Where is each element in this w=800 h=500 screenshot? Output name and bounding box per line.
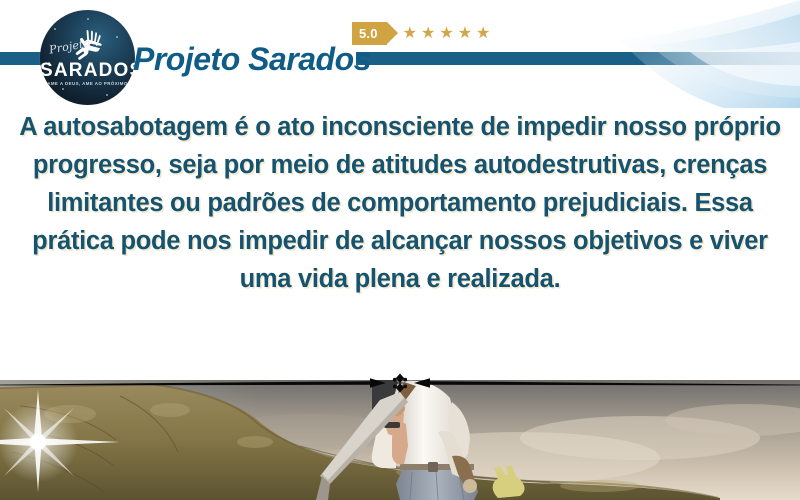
logo-tagline: AME A DEUS, AME AO PRÓXIMO <box>40 81 135 86</box>
logo-wordmark: SARADOS® <box>40 61 135 80</box>
star-icon: ★ <box>403 26 417 42</box>
quote-text: A autosabotagem é o ato inconsciente de … <box>0 108 800 298</box>
star-icon: ★ <box>458 26 472 42</box>
decorative-divider <box>0 372 800 394</box>
diamond-ornament <box>393 374 407 393</box>
rating-stars: ★ ★ ★ ★ ★ <box>403 26 491 42</box>
photo-illustration <box>0 380 800 500</box>
star-icon: ★ <box>476 26 490 42</box>
rating-score-badge: 5.0 <box>352 22 387 45</box>
brand-logo[interactable]: Projeto SARADOS® AME A DEUS, AME AO PRÓX… <box>40 10 135 105</box>
star-icon: ★ <box>439 26 453 42</box>
header: Projeto SARADOS® AME A DEUS, AME AO PRÓX… <box>0 0 800 108</box>
star-icon: ★ <box>421 26 435 42</box>
brand-title: Projeto Sarados <box>133 41 371 78</box>
rating-widget[interactable]: 5.0 ★ ★ ★ ★ ★ <box>352 22 490 45</box>
social-post-card: Projeto SARADOS® AME A DEUS, AME AO PRÓX… <box>0 0 800 500</box>
photo-self-sabotage <box>0 380 800 500</box>
header-rule-right <box>356 52 800 65</box>
logo-wordmark-text: SARADOS <box>40 60 135 81</box>
